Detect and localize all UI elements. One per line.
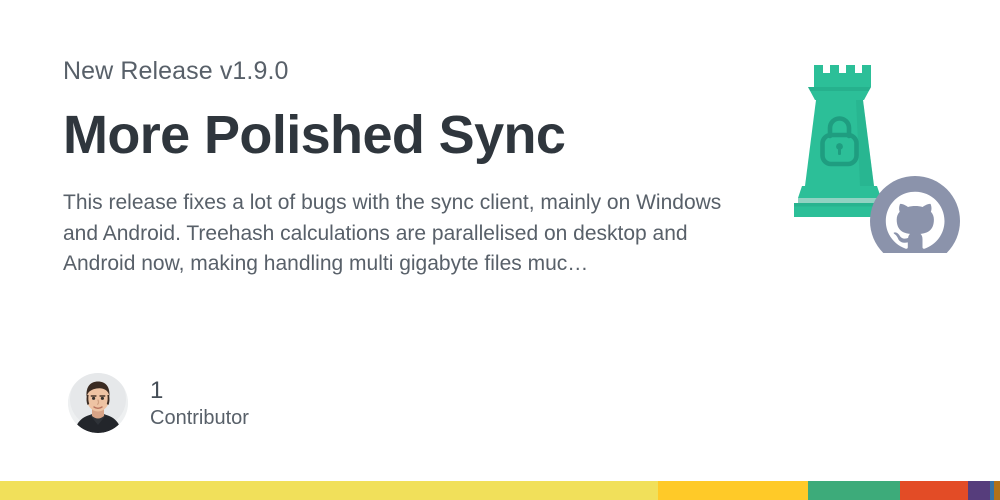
language-segment-1 (0, 481, 658, 500)
contributor-count: 1 (150, 377, 249, 404)
github-octocat-icon (870, 176, 960, 253)
language-segment-3 (808, 481, 900, 500)
release-description: This release fixes a lot of bugs with th… (63, 188, 728, 280)
language-segment-4 (900, 481, 968, 500)
card-content: New Release v1.9.0 More Polished Sync Th… (63, 56, 743, 280)
release-eyebrow: New Release v1.9.0 (63, 56, 743, 86)
avatar (68, 373, 128, 433)
contributor-block: 1 Contributor (68, 373, 249, 433)
language-segment-2 (658, 481, 808, 500)
release-social-card: New Release v1.9.0 More Polished Sync Th… (0, 0, 1000, 500)
language-segment-5 (968, 481, 990, 500)
language-segment-7 (994, 481, 1000, 500)
contributor-text: 1 Contributor (150, 377, 249, 430)
chess-rook-icon (794, 65, 885, 217)
contributor-label: Contributor (150, 406, 249, 430)
release-artwork (782, 48, 962, 253)
release-headline: More Polished Sync (63, 104, 743, 166)
language-bar (0, 481, 1000, 500)
